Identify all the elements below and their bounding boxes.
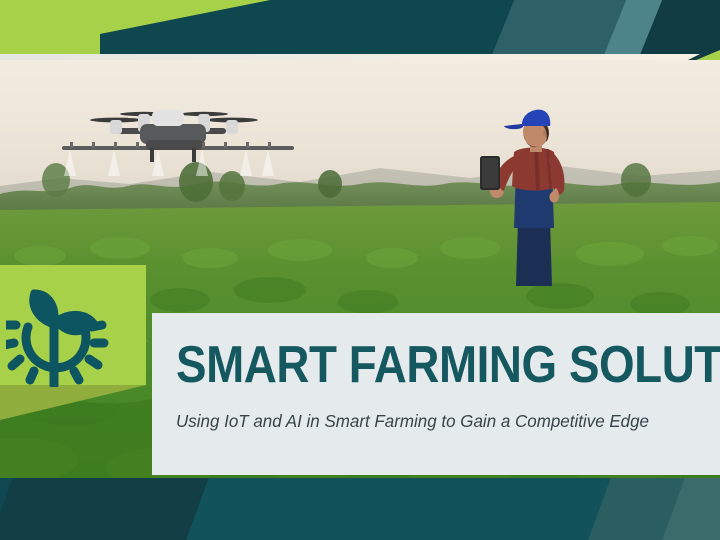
top-banner-band bbox=[0, 0, 720, 54]
bottom-band-diagonal-shade-2 bbox=[180, 478, 643, 540]
bottom-banner-band bbox=[0, 478, 720, 540]
page-subtitle: Using IoT and AI in Smart Farming to Gai… bbox=[176, 411, 649, 432]
presentation-slide: SMART FARMING SOLUTIONS Using IoT and AI… bbox=[0, 0, 720, 540]
logo-badge bbox=[0, 265, 146, 420]
gear-sprout-logo-icon bbox=[6, 281, 116, 387]
top-left-green-wedge bbox=[0, 0, 270, 54]
page-title: SMART FARMING SOLUTIONS bbox=[176, 339, 720, 391]
logo-badge-pointer bbox=[0, 385, 146, 420]
title-card: SMART FARMING SOLUTIONS Using IoT and AI… bbox=[152, 313, 720, 475]
